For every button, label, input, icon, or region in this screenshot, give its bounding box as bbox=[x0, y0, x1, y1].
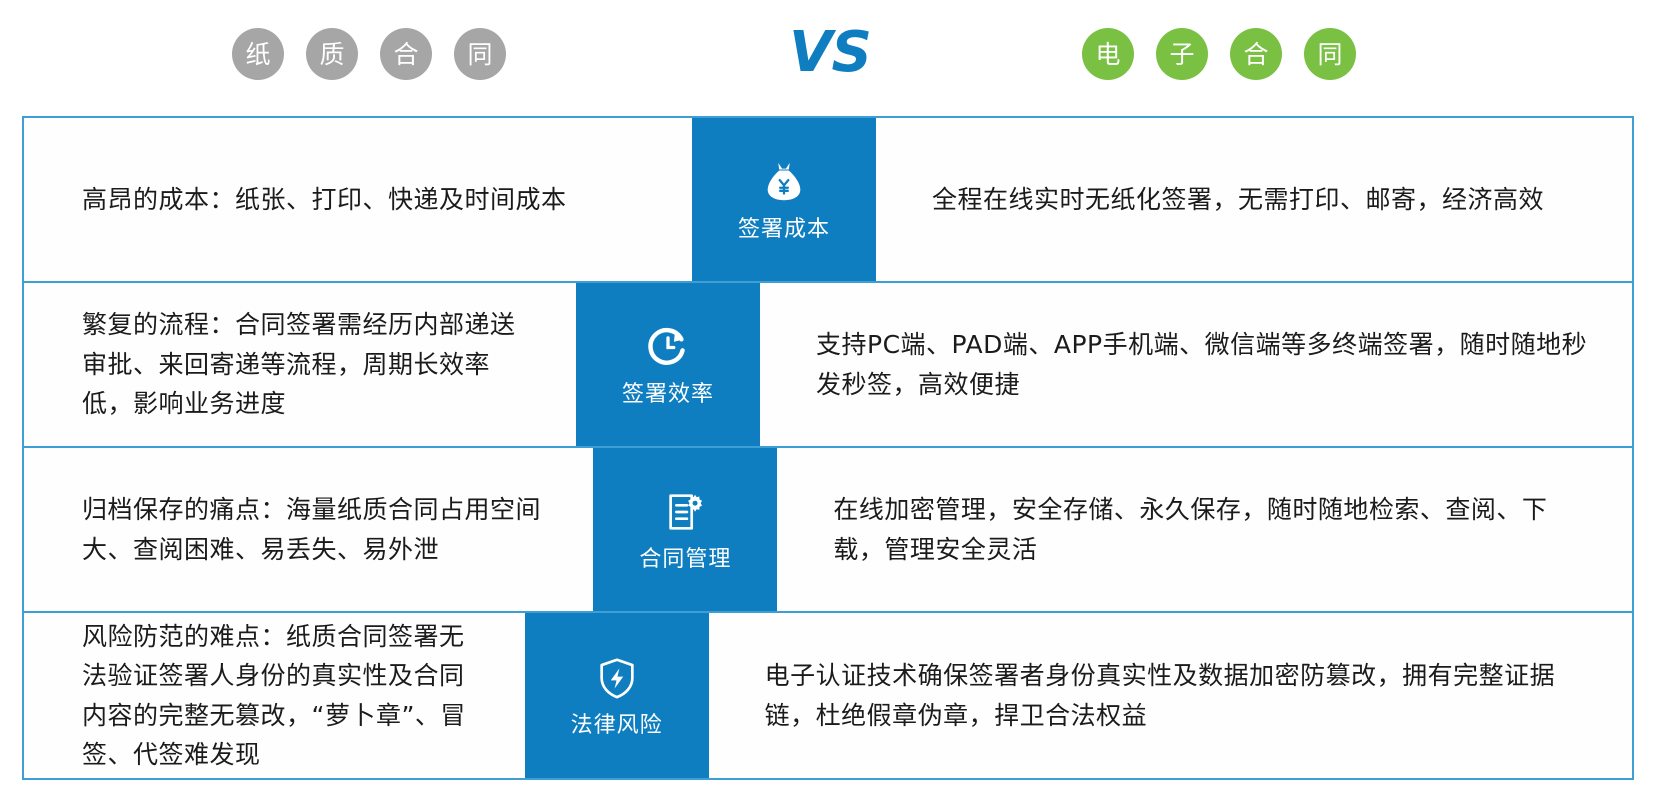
category-label: 合同管理 bbox=[639, 549, 731, 571]
category-cell: 签署成本 bbox=[692, 118, 876, 281]
badge-label: 电 bbox=[1095, 42, 1120, 67]
category-cell: 签署效率 bbox=[576, 283, 760, 446]
table-row: 风险防范的难点：纸质合同签署无法验证签署人身份的真实性及合同内容的完整无篡改，“… bbox=[24, 613, 1632, 778]
electronic-contract-cell: 全程在线实时无纸化签署，无需打印、邮寄，经济高效 bbox=[876, 118, 1632, 281]
category-label: 签署效率 bbox=[622, 384, 714, 406]
badge-electronic-2: 子 bbox=[1156, 28, 1208, 80]
table-row: 高昂的成本：纸张、打印、快递及时间成本 签署成本 全程在线实时无纸化签署，无需打… bbox=[24, 118, 1632, 283]
category-cell: 合同管理 bbox=[593, 448, 777, 611]
paper-contract-cell: 归档保存的痛点：海量纸质合同占用空间大、查阅困难、易丢失、易外泄 bbox=[24, 448, 593, 611]
clock-arrow-icon bbox=[645, 324, 691, 370]
paper-contract-cell: 繁复的流程：合同签署需经历内部递送审批、来回寄递等流程，周期长效率低，影响业务进… bbox=[24, 283, 576, 446]
shield-bolt-icon bbox=[594, 655, 640, 701]
table-row: 繁复的流程：合同签署需经历内部递送审批、来回寄递等流程，周期长效率低，影响业务进… bbox=[24, 283, 1632, 448]
electronic-contract-text: 在线加密管理，安全存储、永久保存，随时随地检索、查阅、下载，管理安全灵活 bbox=[833, 490, 1592, 569]
badge-electronic-4: 同 bbox=[1304, 28, 1356, 80]
paper-contract-text: 归档保存的痛点：海量纸质合同占用空间大、查阅困难、易丢失、易外泄 bbox=[82, 490, 551, 569]
document-gear-icon bbox=[662, 489, 708, 535]
table-row: 归档保存的痛点：海量纸质合同占用空间大、查阅困难、易丢失、易外泄 合同管理 在线… bbox=[24, 448, 1632, 613]
paper-contract-cell: 高昂的成本：纸张、打印、快递及时间成本 bbox=[24, 118, 692, 281]
vs-logo: VS bbox=[0, 20, 1660, 85]
badge-electronic-3: 合 bbox=[1230, 28, 1282, 80]
money-bag-icon bbox=[761, 159, 807, 205]
electronic-contract-badges: 电 子 合 同 bbox=[1082, 28, 1356, 80]
electronic-contract-cell: 电子认证技术确保签署者身份真实性及数据加密防篡改，拥有完整证据链，杜绝假章伪章，… bbox=[709, 613, 1632, 778]
category-label: 法律风险 bbox=[571, 715, 663, 737]
electronic-contract-cell: 支持PC端、PAD端、APP手机端、微信端等多终端签署，随时随地秒发秒签，高效便… bbox=[760, 283, 1632, 446]
electronic-contract-text: 支持PC端、PAD端、APP手机端、微信端等多终端签署，随时随地秒发秒签，高效便… bbox=[816, 325, 1592, 404]
paper-contract-text: 风险防范的难点：纸质合同签署无法验证签署人身份的真实性及合同内容的完整无篡改，“… bbox=[82, 617, 483, 775]
category-cell: 法律风险 bbox=[525, 613, 709, 778]
comparison-table: 高昂的成本：纸张、打印、快递及时间成本 签署成本 全程在线实时无纸化签署，无需打… bbox=[22, 116, 1634, 780]
header: 纸 质 合 同 VS 电 子 合 同 bbox=[0, 0, 1660, 112]
paper-contract-text: 繁复的流程：合同签署需经历内部递送审批、来回寄递等流程，周期长效率低，影响业务进… bbox=[82, 305, 534, 424]
paper-contract-text: 高昂的成本：纸张、打印、快递及时间成本 bbox=[82, 180, 567, 220]
badge-electronic-1: 电 bbox=[1082, 28, 1134, 80]
electronic-contract-text: 全程在线实时无纸化签署，无需打印、邮寄，经济高效 bbox=[932, 180, 1544, 220]
category-label: 签署成本 bbox=[738, 219, 830, 241]
badge-label: 子 bbox=[1169, 42, 1194, 67]
paper-contract-cell: 风险防范的难点：纸质合同签署无法验证签署人身份的真实性及合同内容的完整无篡改，“… bbox=[24, 613, 525, 778]
badge-label: 合 bbox=[1243, 42, 1268, 67]
electronic-contract-cell: 在线加密管理，安全存储、永久保存，随时随地检索、查阅、下载，管理安全灵活 bbox=[777, 448, 1632, 611]
electronic-contract-text: 电子认证技术确保签署者身份真实性及数据加密防篡改，拥有完整证据链，杜绝假章伪章，… bbox=[765, 656, 1592, 735]
badge-label: 同 bbox=[1317, 42, 1342, 67]
